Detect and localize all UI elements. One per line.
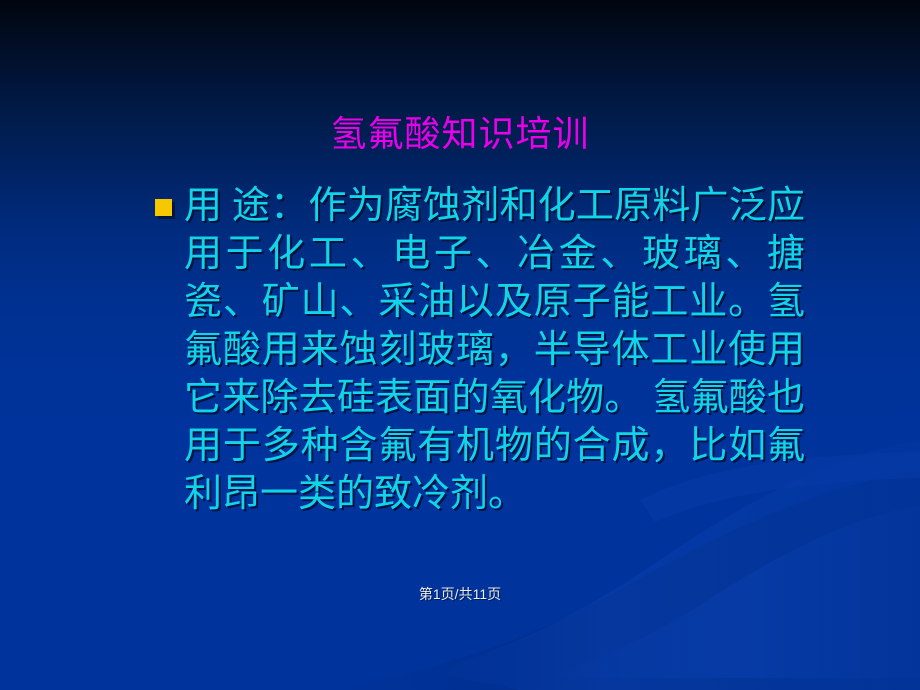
slide-title: 氢氟酸知识培训: [0, 112, 920, 156]
presentation-slide: 氢氟酸知识培训 用 途：作为腐蚀剂和化工原料广泛应用于化工、电子、冶金、玻璃、搪…: [0, 0, 920, 690]
square-bullet-icon: [155, 199, 172, 216]
slide-body-bullet-item: 用 途：作为腐蚀剂和化工原料广泛应用于化工、电子、冶金、玻璃、搪瓷、矿山、采油以…: [155, 182, 805, 518]
slide-body-text: 用 途：作为腐蚀剂和化工原料广泛应用于化工、电子、冶金、玻璃、搪瓷、矿山、采油以…: [184, 182, 805, 518]
page-number-footer: 第1页/共11页: [0, 585, 920, 603]
